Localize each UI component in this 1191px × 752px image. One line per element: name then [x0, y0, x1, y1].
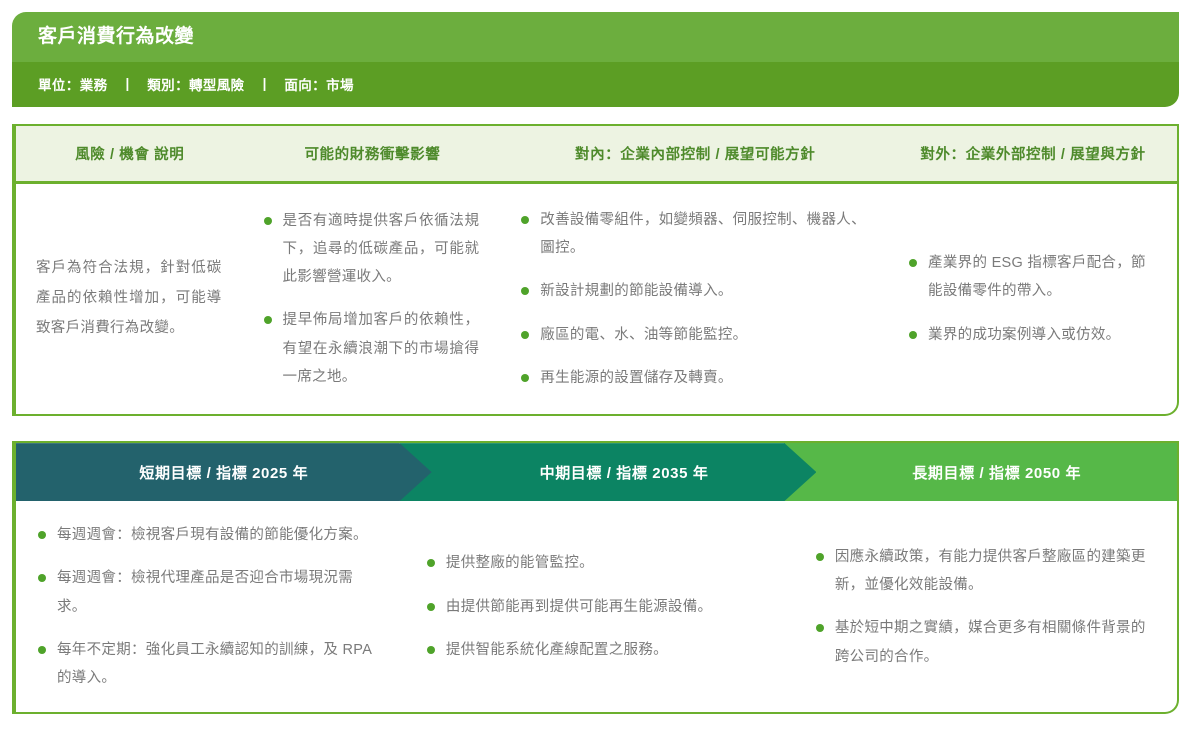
list-item: 每週週會：檢視客戶現有設備的節能優化方案。 [38, 521, 379, 549]
cell-long-term-goals: 因應永續政策，有能力提供客戶整廠區的建築更新，並優化效能設備。 基於短中期之實績… [794, 501, 1177, 712]
meta-aspect: 面向：市場 [284, 74, 354, 94]
timeline-chevron-bar: 短期目標 / 指標 2025 年 中期目標 / 指標 2035 年 長期目標 /… [16, 443, 1177, 501]
list-item: 提供智能系統化產線配置之服務。 [427, 636, 768, 664]
column-header-risk-description: 風險 / 機會 說明 [16, 126, 244, 181]
cell-internal-control: 改善設備零組件，如變頻器、伺服控制、機器人、圖控。 新設計規劃的節能設備導入。 … [501, 184, 889, 414]
column-header-financial-impact: 可能的財務衝擊影響 [244, 126, 502, 181]
header-meta-band: 單位：業務 | 類別：轉型風險 | 面向：市場 [12, 62, 1179, 107]
list-item: 廠區的電、水、油等節能監控。 [521, 321, 867, 349]
list-item: 提早佈局增加客戶的依賴性，有望在永續浪潮下的市場搶得一席之地。 [264, 306, 480, 391]
cell-mid-term-goals: 提供整廠的能管監控。 由提供節能再到提供可能再生能源設備。 提供智能系統化產線配… [405, 501, 794, 712]
list-item: 再生能源的設置儲存及轉賣。 [521, 364, 867, 392]
cell-external-control: 產業界的 ESG 指標客戶配合，節能設備零件的帶入。 業界的成功案例導入或仿效。 [889, 184, 1177, 414]
cell-financial-impact: 是否有適時提供客戶依循法規下，追尋的低碳產品，可能就此影響營運收入。 提早佈局增… [244, 184, 502, 414]
timeline-card: 短期目標 / 指標 2025 年 中期目標 / 指標 2035 年 長期目標 /… [12, 441, 1179, 714]
short-term-list: 每週週會：檢視客戶現有設備的節能優化方案。 每週週會：檢視代理產品是否迎合市場現… [38, 521, 379, 692]
list-item: 改善設備零組件，如變頻器、伺服控制、機器人、圖控。 [521, 206, 867, 263]
long-term-list: 因應永續政策，有能力提供客戶整廠區的建築更新，並優化效能設備。 基於短中期之實績… [816, 543, 1151, 671]
cell-risk-description: 客戶為符合法規，針對低碳產品的依賴性增加，可能導致客戶消費行為改變。 [16, 184, 244, 414]
page-title: 客戶消費行為改變 [38, 26, 1153, 49]
list-item: 每年不定期：強化員工永續認知的訓練，及 RPA 的導入。 [38, 636, 379, 693]
list-item: 提供整廠的能管監控。 [427, 549, 768, 577]
financial-impact-list: 是否有適時提供客戶依循法規下，追尋的低碳產品，可能就此影響營運收入。 提早佈局增… [264, 207, 480, 392]
list-item: 是否有適時提供客戶依循法規下，追尋的低碳產品，可能就此影響營運收入。 [264, 207, 480, 292]
list-item: 業界的成功案例導入或仿效。 [909, 321, 1155, 349]
external-control-list: 產業界的 ESG 指標客戶配合，節能設備零件的帶入。 業界的成功案例導入或仿效。 [909, 249, 1155, 349]
matrix-body-row: 客戶為符合法規，針對低碳產品的依賴性增加，可能導致客戶消費行為改變。 是否有適時… [16, 184, 1177, 414]
matrix-header-row: 風險 / 機會 說明 可能的財務衝擊影響 對內：企業內部控制 / 展望可能方針 … [16, 126, 1177, 184]
risk-opportunity-sheet: 客戶消費行為改變 單位：業務 | 類別：轉型風險 | 面向：市場 風險 / 機會… [0, 12, 1191, 752]
timeline-body-row: 每週週會：檢視客戶現有設備的節能優化方案。 每週週會：檢視代理產品是否迎合市場現… [16, 501, 1177, 712]
chevron-short-term: 短期目標 / 指標 2025 年 [16, 443, 432, 501]
cell-short-term-goals: 每週週會：檢視客戶現有設備的節能優化方案。 每週週會：檢視代理產品是否迎合市場現… [16, 501, 405, 712]
column-header-external-control: 對外：企業外部控制 / 展望與方針 [889, 126, 1177, 181]
list-item: 產業界的 ESG 指標客戶配合，節能設備零件的帶入。 [909, 249, 1155, 306]
matrix-card: 風險 / 機會 說明 可能的財務衝擊影響 對內：企業內部控制 / 展望可能方針 … [12, 124, 1179, 416]
chevron-mid-term-label: 中期目標 / 指標 2035 年 [540, 462, 709, 483]
meta-separator: | [245, 76, 285, 91]
meta-unit: 單位：業務 [38, 74, 108, 94]
list-item: 每週週會：檢視代理產品是否迎合市場現況需求。 [38, 564, 379, 621]
internal-control-list: 改善設備零組件，如變頻器、伺服控制、機器人、圖控。 新設計規劃的節能設備導入。 … [521, 206, 867, 392]
chevron-long-term-label: 長期目標 / 指標 2050 年 [912, 462, 1081, 483]
column-header-internal-control: 對內：企業內部控制 / 展望可能方針 [501, 126, 889, 181]
chevron-short-term-label: 短期目標 / 指標 2025 年 [139, 462, 308, 483]
meta-category: 類別：轉型風險 [147, 74, 244, 94]
header-title-band: 客戶消費行為改變 [12, 12, 1179, 62]
header-card: 客戶消費行為改變 單位：業務 | 類別：轉型風險 | 面向：市場 [12, 12, 1179, 107]
list-item: 由提供節能再到提供可能再生能源設備。 [427, 593, 768, 621]
chevron-long-term: 長期目標 / 指標 2050 年 [784, 443, 1177, 501]
mid-term-list: 提供整廠的能管監控。 由提供節能再到提供可能再生能源設備。 提供智能系統化產線配… [427, 549, 768, 664]
list-item: 新設計規劃的節能設備導入。 [521, 277, 867, 305]
meta-separator: | [108, 76, 148, 91]
list-item: 基於短中期之實績，媒合更多有相關條件背景的跨公司的合作。 [816, 614, 1151, 671]
risk-description-text: 客戶為符合法規，針對低碳產品的依賴性增加，可能導致客戶消費行為改變。 [36, 254, 222, 343]
list-item: 因應永續政策，有能力提供客戶整廠區的建築更新，並優化效能設備。 [816, 543, 1151, 600]
chevron-mid-term: 中期目標 / 指標 2035 年 [400, 443, 817, 501]
